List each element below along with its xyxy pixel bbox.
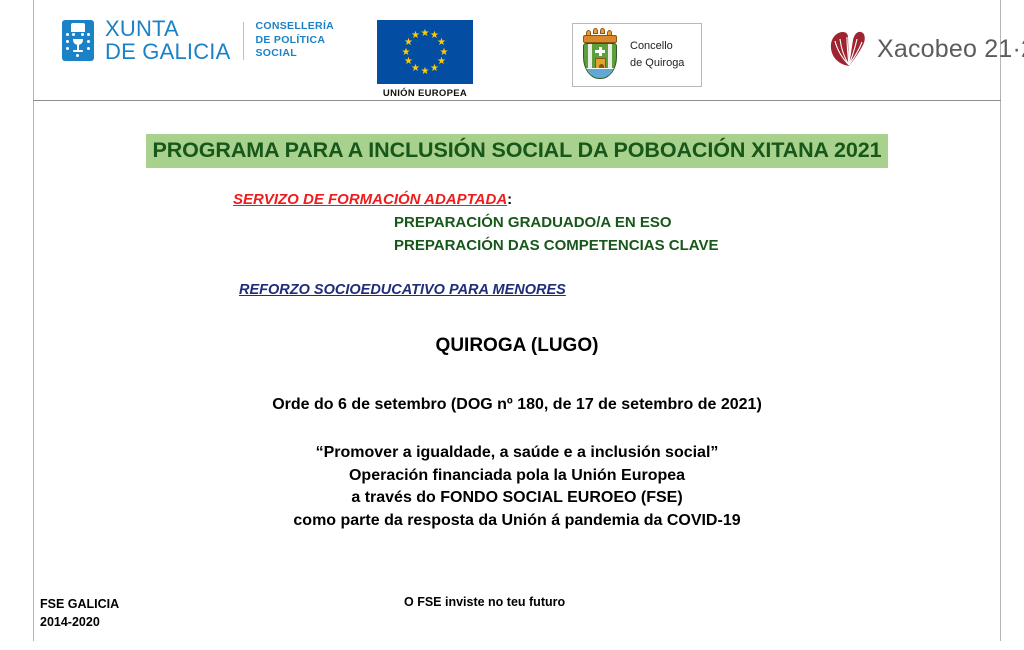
reforzo-heading: REFORZO SOCIOEDUCATIVO PARA MENORES xyxy=(239,282,566,298)
xacobeo-wordmark: Xacobeo 21·22 xyxy=(877,35,1024,64)
service-heading-colon: : xyxy=(507,191,512,208)
footer-fse-galicia-line2: 2014-2020 xyxy=(40,613,119,631)
location-line: QUIROGA (LUGO) xyxy=(34,335,1000,357)
service-item-clave: PREPARACIÓN DAS COMPETENCIAS CLAVE xyxy=(394,237,933,254)
funding-line-1: “Promover a igualdade, a saúde e a inclu… xyxy=(34,442,1000,465)
conselleria-line1: CONSELLERÍA xyxy=(255,20,334,34)
footer-fse-galicia-line1: FSE GALICIA xyxy=(40,595,119,613)
xunta-wordmark-line2: DE GALICIA xyxy=(105,41,230,64)
concello-line2: de Quiroga xyxy=(630,55,684,72)
eu-star-icon: ★ xyxy=(437,38,446,47)
page-right-rule xyxy=(1000,0,1001,641)
service-heading-text: SERVIZO DE FORMACIÓN ADAPTADA xyxy=(233,191,507,208)
eu-star-icon: ★ xyxy=(430,64,439,73)
page-title: PROGRAMA PARA A INCLUSIÓN SOCIAL DA POBO… xyxy=(146,134,889,168)
xacobeo-logo: Xacobeo 21·22 xyxy=(830,31,1024,67)
concello-line1: Concello xyxy=(630,38,684,55)
xacobeo-scallop-shell-icon xyxy=(830,31,868,67)
poster-page: XUNTA DE GALICIA CONSELLERÍA DE POLÍTICA… xyxy=(0,0,1024,650)
concello-label: Concello de Quiroga xyxy=(630,38,684,72)
conselleria-line3: SOCIAL xyxy=(255,47,334,61)
program-title-wrap: PROGRAMA PARA A INCLUSIÓN SOCIAL DA POBO… xyxy=(34,134,1000,168)
funding-line-4: como parte da resposta da Unión á pandem… xyxy=(34,510,1000,533)
orde-line: Orde do 6 de setembro (DOG nº 180, de 17… xyxy=(34,396,1000,414)
european-union-flag-icon: ★★★★★★★★★★★★ xyxy=(377,20,473,84)
funding-paragraph: “Promover a igualdade, a saúde e a inclu… xyxy=(34,442,1000,533)
european-union-caption: UNIÓN EUROPEA xyxy=(377,88,473,99)
xunta-wordmark: XUNTA DE GALICIA xyxy=(105,18,230,63)
eu-star-icon: ★ xyxy=(421,29,430,38)
conselleria-line2: DE POLÍTICA xyxy=(255,34,334,48)
poster-content: PROGRAMA PARA A INCLUSIÓN SOCIAL DA POBO… xyxy=(34,101,1000,650)
concello-quiroga-coat-of-arms-icon xyxy=(580,29,620,81)
logo-band: XUNTA DE GALICIA CONSELLERÍA DE POLÍTICA… xyxy=(34,0,1000,100)
service-item-eso: PREPARACIÓN GRADUADO/A EN ESO xyxy=(394,214,933,231)
eu-star-icon: ★ xyxy=(411,31,420,40)
funding-line-3: a través do FONDO SOCIAL EUROEO (FSE) xyxy=(34,487,1000,510)
concello-de-quiroga-logo: Concello de Quiroga xyxy=(572,23,702,87)
eu-star-icon: ★ xyxy=(402,48,411,57)
service-block: SERVIZO DE FORMACIÓN ADAPTADA: PREPARACI… xyxy=(233,191,933,254)
european-union-logo: ★★★★★★★★★★★★ UNIÓN EUROPEA xyxy=(377,20,473,99)
funding-line-2: Operación financiada pola la Unión Europ… xyxy=(34,465,1000,488)
service-heading: SERVIZO DE FORMACIÓN ADAPTADA: xyxy=(233,191,933,208)
footer-fse-galicia: FSE GALICIA 2014-2020 xyxy=(40,595,119,631)
xunta-wordmark-line1: XUNTA xyxy=(105,18,230,41)
eu-star-icon: ★ xyxy=(404,57,413,66)
xunta-de-galicia-logo: XUNTA DE GALICIA CONSELLERÍA DE POLÍTICA… xyxy=(62,18,334,63)
xunta-galicia-emblem-icon xyxy=(62,20,94,61)
eu-star-icon: ★ xyxy=(421,67,430,76)
conselleria-label: CONSELLERÍA DE POLÍTICA SOCIAL xyxy=(255,20,334,61)
xunta-logo-divider xyxy=(243,22,244,60)
footer-slogan: O FSE inviste no teu futuro xyxy=(404,595,565,609)
